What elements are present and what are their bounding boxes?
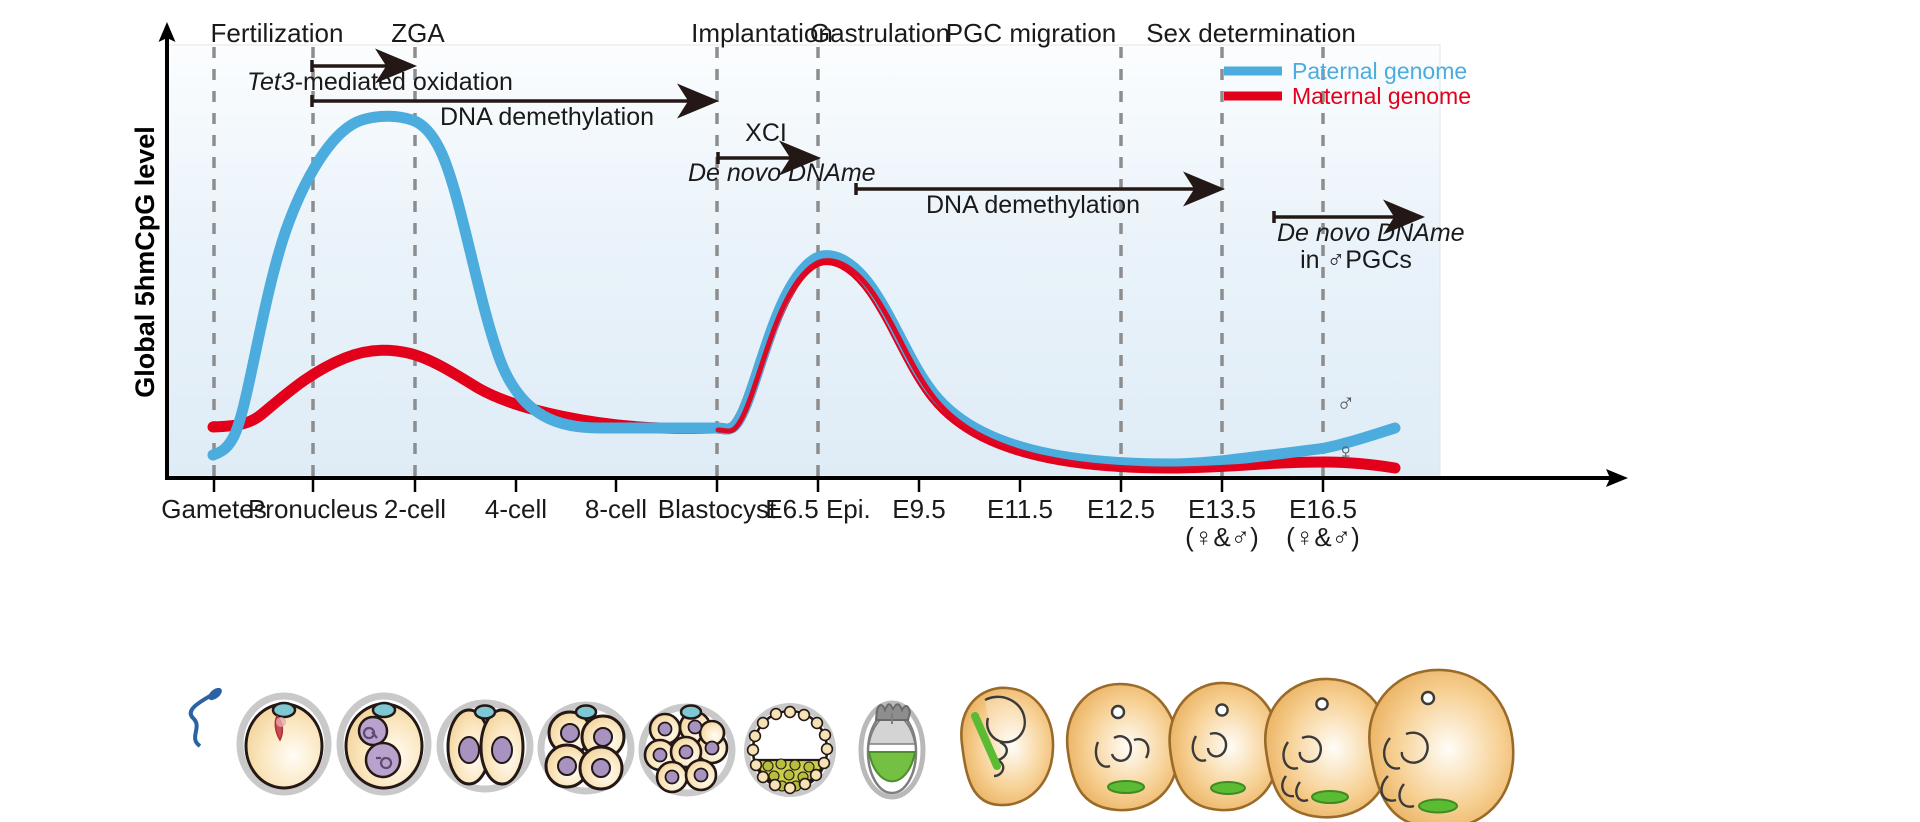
xtick-pronucleus: Pronucleus bbox=[248, 494, 378, 524]
xtick-blastocyst: Blastocyst bbox=[658, 494, 777, 524]
phase-label-pgc-migration: PGC migration bbox=[946, 18, 1117, 48]
xtick-e125: E12.5 bbox=[1087, 494, 1155, 524]
xtick-e165-sex: (♀&♂) bbox=[1286, 522, 1360, 552]
embryo-e115 bbox=[1067, 684, 1178, 810]
annotation-dna-demethylation-late-text: DNA demethylation bbox=[926, 191, 1140, 219]
embryo-2-cell bbox=[440, 703, 530, 789]
phase-label-sex-determination: Sex determination bbox=[1146, 18, 1356, 48]
embryo-blastocyst bbox=[747, 706, 833, 794]
annotation-de-novo-dname-pgcs-line1: De novo DNAme bbox=[1277, 219, 1465, 247]
de-novo-italic: De novo DNAme bbox=[688, 159, 876, 187]
xtick-e95: E9.5 bbox=[892, 494, 946, 524]
annotation-de-novo-dname-pgcs-line2: in ♂PGCs bbox=[1300, 246, 1412, 274]
xtick-4-cell: 4-cell bbox=[485, 494, 547, 524]
xtick-2-cell: 2-cell bbox=[384, 494, 446, 524]
embryo-gametes bbox=[191, 686, 328, 792]
de-novo-pgcs-italic: De novo DNAme bbox=[1277, 219, 1465, 247]
legend-label-paternal: Paternal genome bbox=[1292, 58, 1467, 84]
annotation-dna-demethylation-early-text: DNA demethylation bbox=[440, 103, 654, 131]
phase-label-gastrulation: Gastrulation bbox=[810, 18, 950, 48]
annotation-tet3-oxidation-text: Tet3-mediated oxidation bbox=[247, 68, 513, 96]
embryo-e65 bbox=[861, 703, 923, 797]
xtick-8-cell: 8-cell bbox=[585, 494, 647, 524]
xtick-e65-epi: E6.5 Epi. bbox=[765, 494, 871, 524]
embryo-e95 bbox=[961, 688, 1053, 805]
embryo-e125 bbox=[1170, 683, 1279, 810]
x-axis-ticks bbox=[214, 478, 1323, 492]
male-branch-symbol: ♂ bbox=[1336, 388, 1356, 418]
annotation-de-novo-dname-text: De novo DNAme bbox=[688, 159, 876, 187]
figure-root: Global 5hmCpG level Fertilization ZGA Im… bbox=[0, 0, 1920, 822]
embryo-4-cell bbox=[541, 705, 631, 791]
legend-label-maternal: Maternal genome bbox=[1292, 83, 1471, 109]
epigenetic-reprogramming-figure: Global 5hmCpG level Fertilization ZGA Im… bbox=[0, 0, 1920, 822]
embryo-illustration-row bbox=[191, 670, 1513, 822]
y-axis-label: Global 5hmCpG level bbox=[130, 126, 160, 398]
phase-label-zga: ZGA bbox=[391, 18, 445, 48]
xtick-e165: E16.5 bbox=[1289, 494, 1357, 524]
x-axis-tick-labels: Gametes Pronucleus 2-cell 4-cell 8-cell … bbox=[161, 494, 1360, 552]
embryo-8-cell bbox=[642, 706, 732, 794]
xtick-e115: E11.5 bbox=[987, 494, 1053, 524]
tet3-italic: Tet3 bbox=[247, 68, 295, 96]
phase-label-fertilization: Fertilization bbox=[211, 18, 344, 48]
annotation-xci-text: XCI bbox=[745, 119, 787, 147]
plot-background bbox=[167, 45, 1440, 475]
female-branch-symbol: ♀ bbox=[1336, 437, 1356, 467]
xtick-e135: E13.5 bbox=[1188, 494, 1256, 524]
tet3-rest: -mediated oxidation bbox=[295, 68, 513, 96]
embryo-pronucleus bbox=[340, 696, 428, 792]
xtick-e135-sex: (♀&♂) bbox=[1185, 522, 1259, 552]
embryo-e165 bbox=[1369, 670, 1513, 822]
